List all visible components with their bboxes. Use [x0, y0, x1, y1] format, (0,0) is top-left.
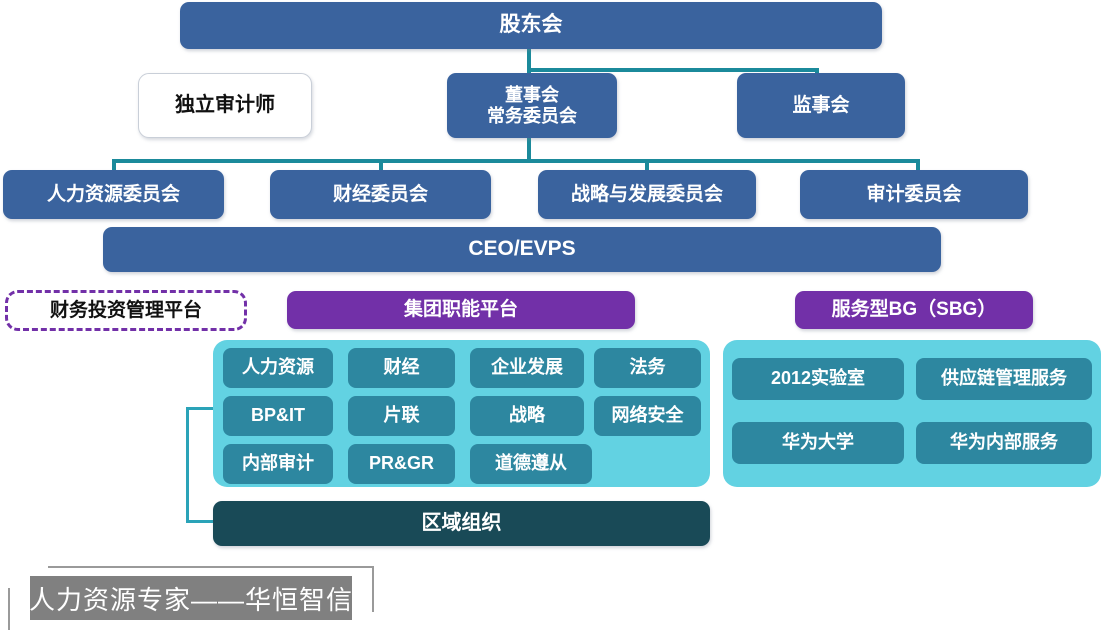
tile-pr-gr-label: PR&GR [369, 454, 434, 474]
node-committee-audit[interactable]: 审计委员会 [800, 170, 1028, 219]
node-committee-hr-label: 人力资源委员会 [47, 184, 180, 206]
watermark-text: 人力资源专家——华恒智信 [30, 576, 352, 620]
node-committee-audit-label: 审计委员会 [866, 184, 961, 206]
tile-legal-label: 法务 [630, 358, 666, 378]
node-committee-finance[interactable]: 财经委员会 [270, 170, 491, 219]
tile-enterprise-development-label: 企业发展 [491, 358, 563, 378]
node-shareholders[interactable]: 股东会 [180, 2, 882, 49]
tile-internal-audit[interactable]: 内部审计 [223, 444, 333, 484]
tile-hr-label: 人力资源 [242, 358, 314, 378]
node-group-function-platform[interactable]: 集团职能平台 [287, 291, 635, 329]
tile-2012-lab-label: 2012实验室 [771, 369, 865, 389]
node-committee-strategy-development-label: 战略与发展委员会 [571, 184, 723, 206]
connector-shareholders-horizontal [527, 68, 819, 72]
tile-ethics-compliance[interactable]: 道德遵从 [470, 444, 592, 484]
tile-bp-it-label: BP&IT [251, 406, 305, 426]
tile-pianlian-label: 片联 [384, 406, 420, 426]
connector-shareholders-down [527, 48, 531, 70]
node-ceo-evps-label: CEO/EVPS [468, 237, 575, 261]
node-committee-strategy-development[interactable]: 战略与发展委员会 [538, 170, 756, 219]
node-committee-hr[interactable]: 人力资源委员会 [3, 170, 224, 219]
tile-pr-gr[interactable]: PR&GR [348, 444, 455, 484]
node-board-line-1: 董事会 [505, 85, 559, 106]
tile-huawei-university-label: 华为大学 [782, 433, 854, 453]
tile-network-security-label: 网络安全 [612, 406, 684, 426]
node-board-of-directors[interactable]: 董事会 常务委员会 [447, 73, 617, 138]
tile-network-security[interactable]: 网络安全 [594, 396, 701, 436]
tile-2012-lab[interactable]: 2012实验室 [732, 358, 904, 400]
connector-committee-bus [112, 159, 920, 163]
tile-ethics-compliance-label: 道德遵从 [495, 454, 567, 474]
tile-strategy[interactable]: 战略 [470, 396, 584, 436]
node-regional-organization-label: 区域组织 [422, 512, 502, 535]
org-chart-diagram: 股东会 独立审计师 董事会 常务委员会 监事会 人力资源委员会 财经委员会 战略… [0, 0, 1105, 630]
tile-bp-it[interactable]: BP&IT [223, 396, 333, 436]
node-shareholders-label: 股东会 [500, 13, 563, 37]
node-supervisory-board[interactable]: 监事会 [737, 73, 905, 138]
node-finance-investment-platform[interactable]: 财务投资管理平台 [5, 290, 247, 331]
node-independent-auditor-label: 独立审计师 [175, 94, 275, 117]
tile-supply-chain-management-service[interactable]: 供应链管理服务 [916, 358, 1092, 400]
node-board-line-2: 常务委员会 [487, 106, 577, 127]
tile-huawei-internal-service-label: 华为内部服务 [950, 433, 1058, 453]
tile-internal-audit-label: 内部审计 [242, 454, 314, 474]
node-supervisory-board-label: 监事会 [792, 95, 849, 117]
node-sbg-platform[interactable]: 服务型BG（SBG） [795, 291, 1033, 329]
node-regional-organization[interactable]: 区域组织 [213, 501, 710, 546]
watermark: 人力资源专家——华恒智信 [8, 566, 388, 630]
node-independent-auditor[interactable]: 独立审计师 [138, 73, 312, 138]
tile-legal[interactable]: 法务 [594, 348, 701, 388]
tile-finance-label: 财经 [384, 358, 420, 378]
node-sbg-platform-label: 服务型BG（SBG） [832, 299, 997, 321]
tile-huawei-internal-service[interactable]: 华为内部服务 [916, 422, 1092, 464]
tile-finance[interactable]: 财经 [348, 348, 455, 388]
tile-hr[interactable]: 人力资源 [223, 348, 333, 388]
node-committee-finance-label: 财经委员会 [333, 184, 428, 206]
tile-huawei-university[interactable]: 华为大学 [732, 422, 904, 464]
tile-strategy-label: 战略 [509, 406, 545, 426]
node-group-function-platform-label: 集团职能平台 [404, 299, 518, 321]
node-finance-investment-platform-label: 财务投资管理平台 [50, 300, 202, 322]
node-ceo-evps[interactable]: CEO/EVPS [103, 227, 941, 272]
tile-enterprise-development[interactable]: 企业发展 [470, 348, 584, 388]
tile-supply-chain-management-service-label: 供应链管理服务 [941, 369, 1067, 389]
tile-pianlian[interactable]: 片联 [348, 396, 455, 436]
